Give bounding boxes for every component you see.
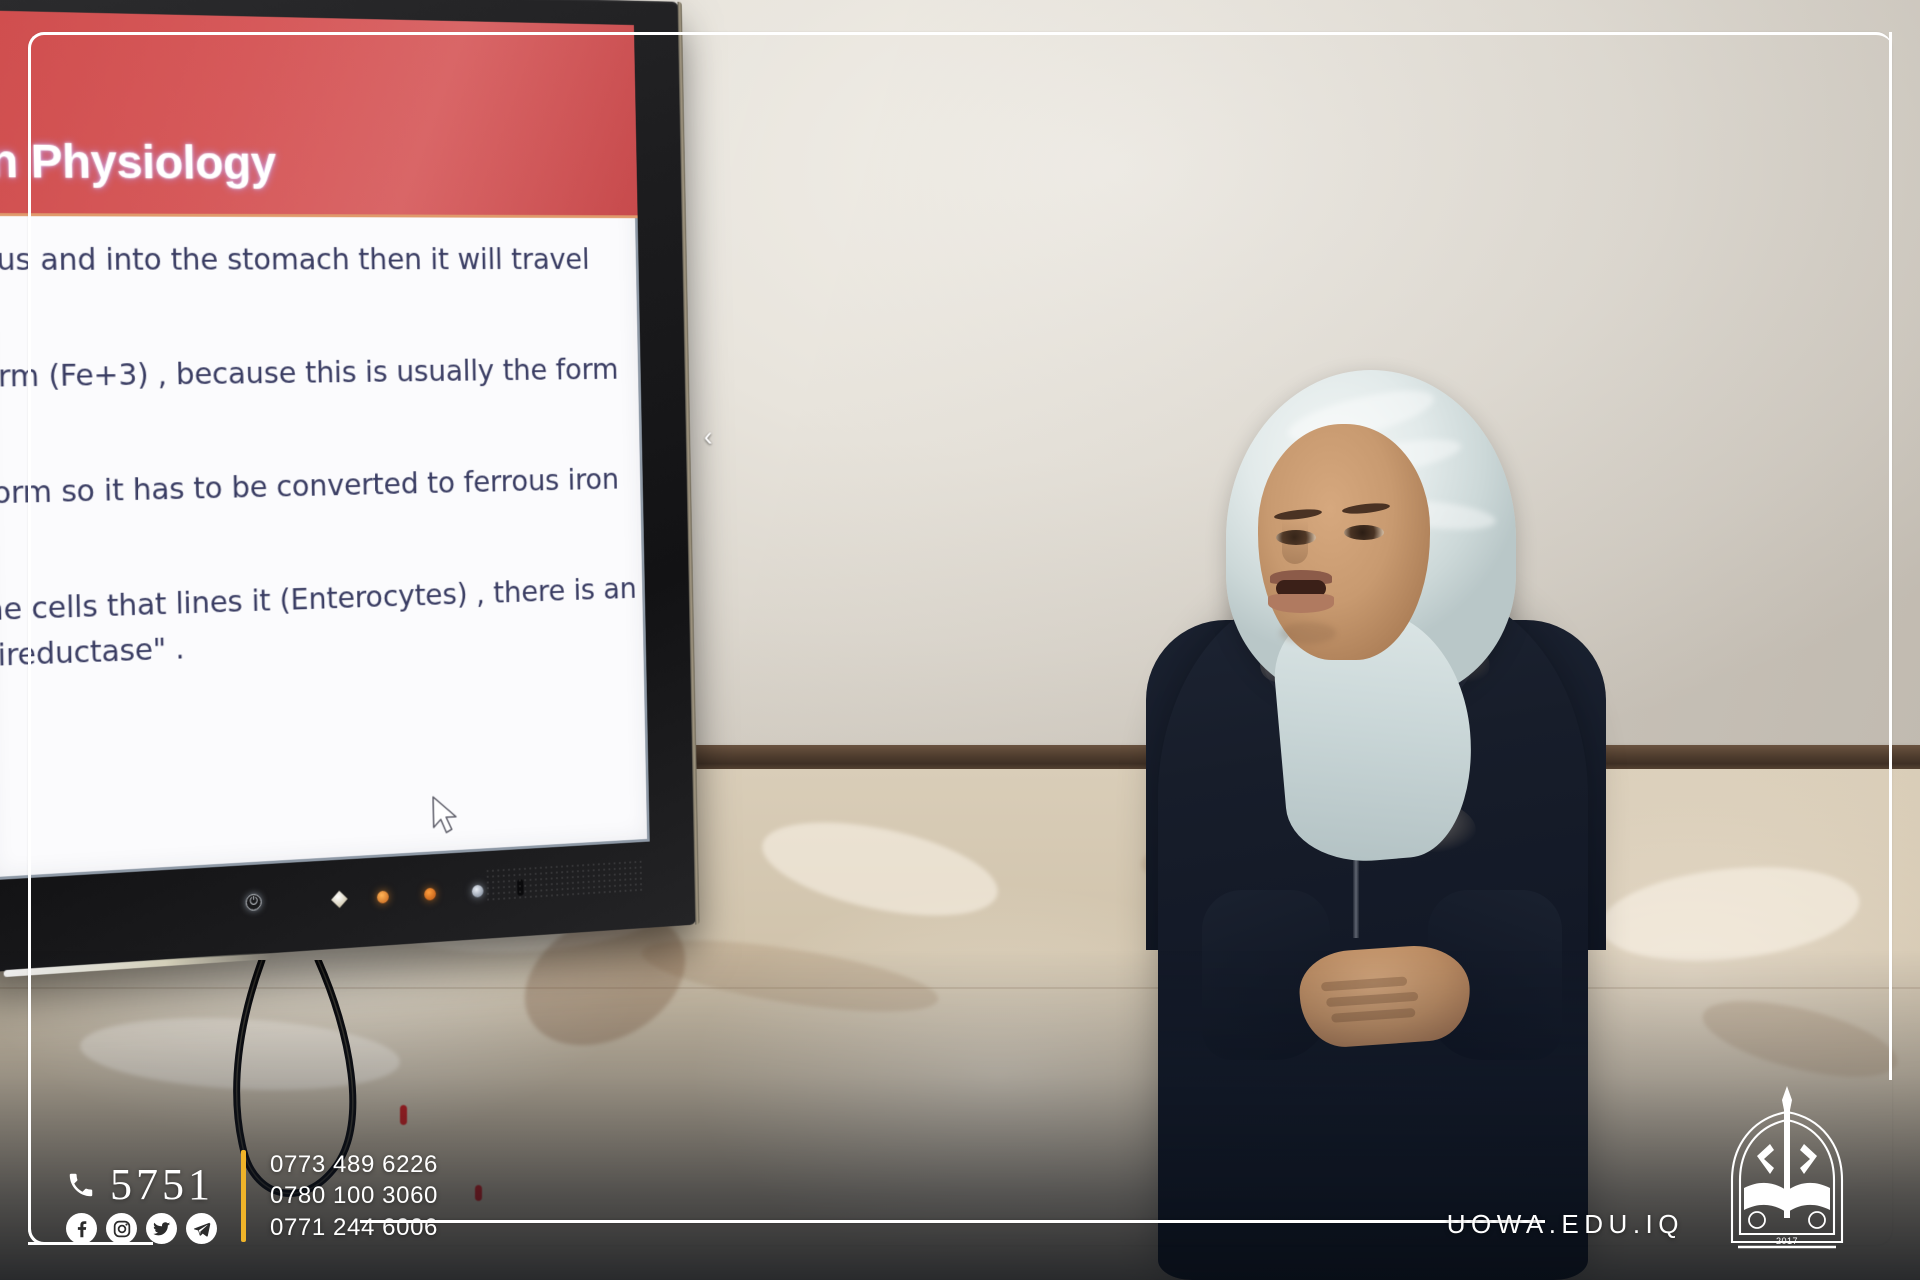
instagram-icon[interactable] [106, 1213, 137, 1244]
footer-contact-bar: 5751 [0, 1120, 1920, 1280]
home-indicator-icon[interactable] [331, 890, 348, 908]
photo-scene: n Physiology gus and into the stomach th… [0, 0, 1920, 1280]
status-led-amber [377, 891, 389, 904]
facebook-icon[interactable] [66, 1213, 97, 1244]
phone-number[interactable]: 0780 100 3060 [270, 1182, 438, 1210]
social-icons-row [66, 1213, 217, 1244]
slide-body: gus and into the stomach then it will tr… [0, 216, 650, 880]
right-eye [1344, 525, 1384, 540]
interactive-flat-panel-display[interactable]: n Physiology gus and into the stomach th… [0, 0, 696, 973]
power-button-icon[interactable]: ⏻ [246, 894, 262, 912]
hotline-and-socials: 5751 [66, 1163, 217, 1244]
footer-horizontal-rule [360, 1220, 1545, 1223]
mouse-cursor-icon [431, 793, 462, 839]
display-screen[interactable]: n Physiology gus and into the stomach th… [0, 10, 650, 880]
contact-divider [241, 1150, 246, 1242]
slide-line: gus and into the stomach then it will tr… [0, 244, 630, 277]
phone-icon [66, 1170, 96, 1200]
slide-previous-chevron-icon[interactable]: ‹ [704, 423, 713, 451]
lower-lip [1268, 594, 1334, 613]
contact-block: 5751 [66, 1150, 438, 1244]
clasped-hands [1297, 942, 1473, 1050]
phone-number[interactable]: 0771 244 6006 [270, 1214, 438, 1242]
overlay-frame-right [1889, 32, 1892, 1080]
telegram-icon[interactable] [186, 1213, 217, 1244]
website-url[interactable]: UOWA.EDU.IQ [1447, 1209, 1684, 1240]
speaker-grille [485, 859, 644, 901]
status-led-orange [424, 888, 436, 901]
slide-title: n Physiology [0, 133, 276, 191]
hotline-number[interactable]: 5751 [110, 1163, 214, 1207]
phone-numbers-list: 0773 489 6226 0780 100 3060 0771 244 600… [270, 1151, 438, 1244]
chin-shadow [1280, 622, 1336, 644]
logo-year: 2017 [1776, 1236, 1798, 1246]
hotline-row: 5751 [66, 1163, 217, 1207]
status-led-white [472, 885, 484, 898]
slide-title-banner: n Physiology [0, 10, 638, 218]
nose [1282, 520, 1308, 564]
university-of-warith-al-anbiyaa-logo: 2017 [1712, 1084, 1862, 1256]
right-eyebrow [1342, 502, 1391, 516]
twitter-icon[interactable] [146, 1213, 177, 1244]
phone-number[interactable]: 0773 489 6226 [270, 1151, 438, 1179]
